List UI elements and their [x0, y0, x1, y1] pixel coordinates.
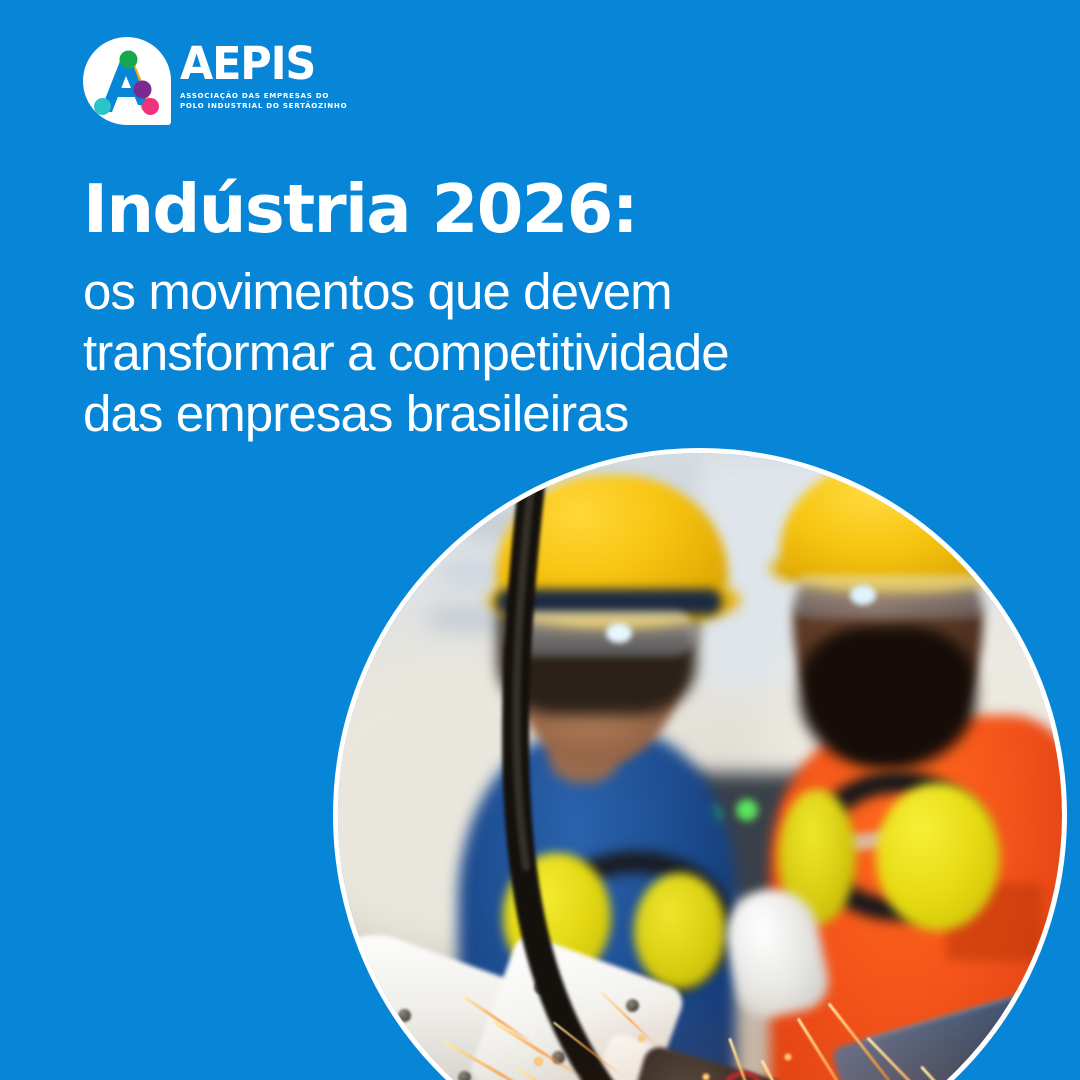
social-post-canvas: AEPIS ASSOCIAÇÃO DAS EMPRESAS DO POLO IN… — [0, 0, 1080, 1080]
logo-name: AEPIS — [180, 44, 310, 86]
robot-bolt-4 — [398, 1009, 411, 1022]
logo-tagline-line-1: ASSOCIAÇÃO DAS EMPRESAS DO — [180, 91, 310, 101]
page-title: Indústria 2026: — [83, 176, 963, 243]
male-worker-beard — [800, 625, 976, 769]
aepis-a-monogram-icon — [82, 36, 172, 126]
factory-photo-scene — [338, 453, 1062, 1080]
male-worker-ear-defender-right — [876, 783, 1000, 931]
page-subtitle-line-1: os movimentos que devem — [83, 261, 963, 322]
photo-clip — [338, 453, 1062, 1080]
headline-block: Indústria 2026: os movimentos que devem … — [83, 176, 963, 445]
welding-torch-cable — [446, 453, 746, 1080]
page-subtitle-line-2: transformar a competitividade — [83, 322, 963, 383]
hero-photo-circle — [333, 448, 1067, 1080]
logo-wordmark: AEPIS ASSOCIAÇÃO DAS EMPRESAS DO POLO IN… — [180, 44, 310, 111]
aepis-logo[interactable]: AEPIS ASSOCIAÇÃO DAS EMPRESAS DO POLO IN… — [82, 36, 292, 132]
male-worker-safety-glasses — [790, 575, 990, 619]
page-subtitle-line-3: das empresas brasileiras — [83, 383, 963, 444]
page-subtitle: os movimentos que devem transformar a co… — [83, 261, 963, 445]
logo-tagline-line-2: POLO INDUSTRIAL DO SERTÃOZINHO — [180, 101, 310, 111]
male-worker-glasses-glint — [850, 585, 876, 605]
